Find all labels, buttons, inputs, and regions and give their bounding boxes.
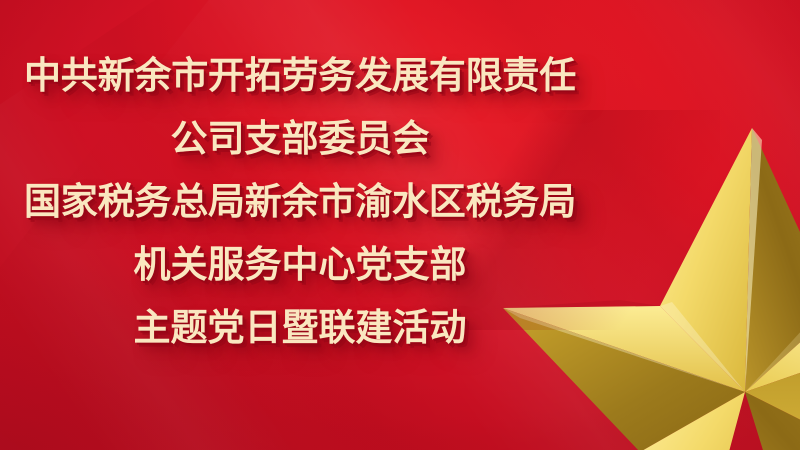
title-line-2: 公司支部委员会 bbox=[0, 107, 600, 170]
banner-title-block: 中共新余市开拓劳务发展有限责任 公司支部委员会 国家税务总局新余市渝水区税务局 … bbox=[0, 44, 600, 359]
title-line-4: 机关服务中心党支部 bbox=[0, 233, 600, 296]
event-banner: 中共新余市开拓劳务发展有限责任 公司支部委员会 国家税务总局新余市渝水区税务局 … bbox=[0, 0, 800, 450]
title-line-3: 国家税务总局新余市渝水区税务局 bbox=[0, 170, 600, 233]
title-line-1: 中共新余市开拓劳务发展有限责任 bbox=[0, 44, 600, 107]
title-line-5: 主题党日暨联建活动 bbox=[0, 296, 600, 359]
